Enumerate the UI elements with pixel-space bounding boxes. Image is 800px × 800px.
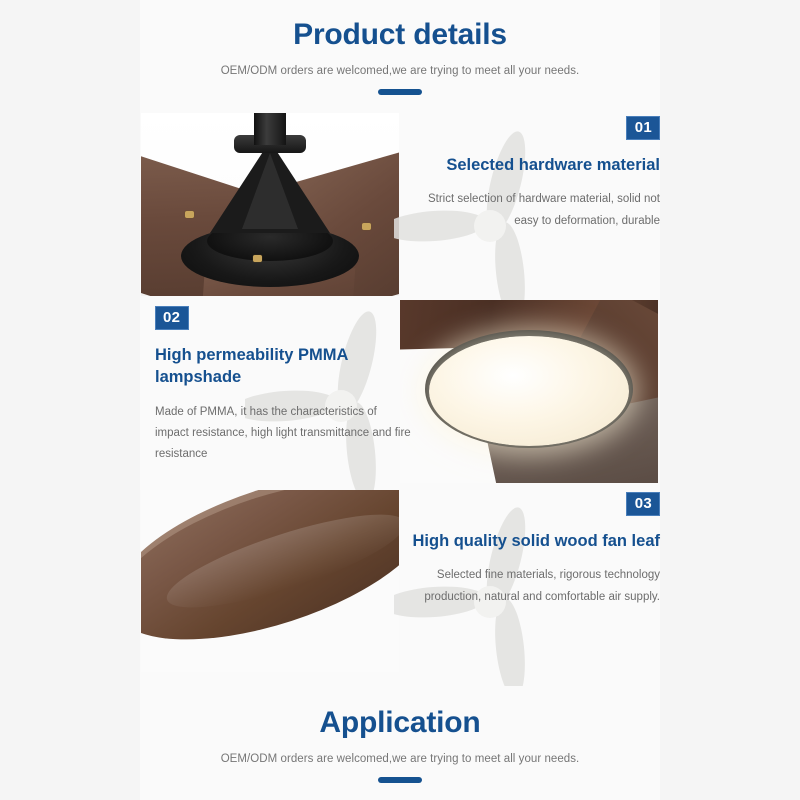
feature-title-03: High quality solid wood fan leaf	[402, 530, 660, 552]
feature-description-01: Strict selection of hardware material, s…	[402, 189, 660, 232]
downrod	[254, 113, 286, 145]
mounting-screw	[253, 255, 262, 262]
product-photo-wood-blade	[141, 490, 399, 672]
feature-description-03: Selected fine materials, rigorous techno…	[402, 565, 660, 608]
feature-block-01: 01 Selected hardware material Strict sel…	[402, 116, 660, 232]
product-details-header: Product details OEM/ODM orders are welco…	[140, 18, 660, 95]
application-subtitle: OEM/ODM orders are welcomed,we are tryin…	[140, 753, 660, 765]
product-photo-lampshade	[400, 300, 658, 483]
title-divider	[378, 89, 422, 95]
feature-badge-02: 02	[155, 306, 189, 330]
feature-block-03: 03 High quality solid wood fan leaf Sele…	[402, 492, 660, 608]
feature-title-01: Selected hardware material	[402, 154, 660, 176]
application-header: Application OEM/ODM orders are welcomed,…	[140, 706, 660, 783]
mounting-screw	[185, 211, 194, 218]
motor-cone-highlight	[242, 153, 298, 229]
product-photo-motor-housing	[141, 113, 399, 296]
application-title: Application	[140, 706, 660, 739]
feature-block-02: 02 High permeability PMMA lampshade Made…	[155, 306, 413, 465]
application-divider	[378, 777, 422, 783]
page-subtitle: OEM/ODM orders are welcomed,we are tryin…	[140, 65, 660, 77]
mounting-screw	[362, 223, 371, 230]
page-title: Product details	[140, 18, 660, 51]
feature-title-02: High permeability PMMA lampshade	[155, 344, 413, 389]
pmma-lampshade-disc	[429, 336, 629, 446]
product-detail-page: Product details OEM/ODM orders are welco…	[0, 0, 800, 800]
feature-description-02: Made of PMMA, it has the characteristics…	[155, 402, 413, 466]
feature-badge-03: 03	[626, 492, 660, 516]
feature-badge-01: 01	[626, 116, 660, 140]
